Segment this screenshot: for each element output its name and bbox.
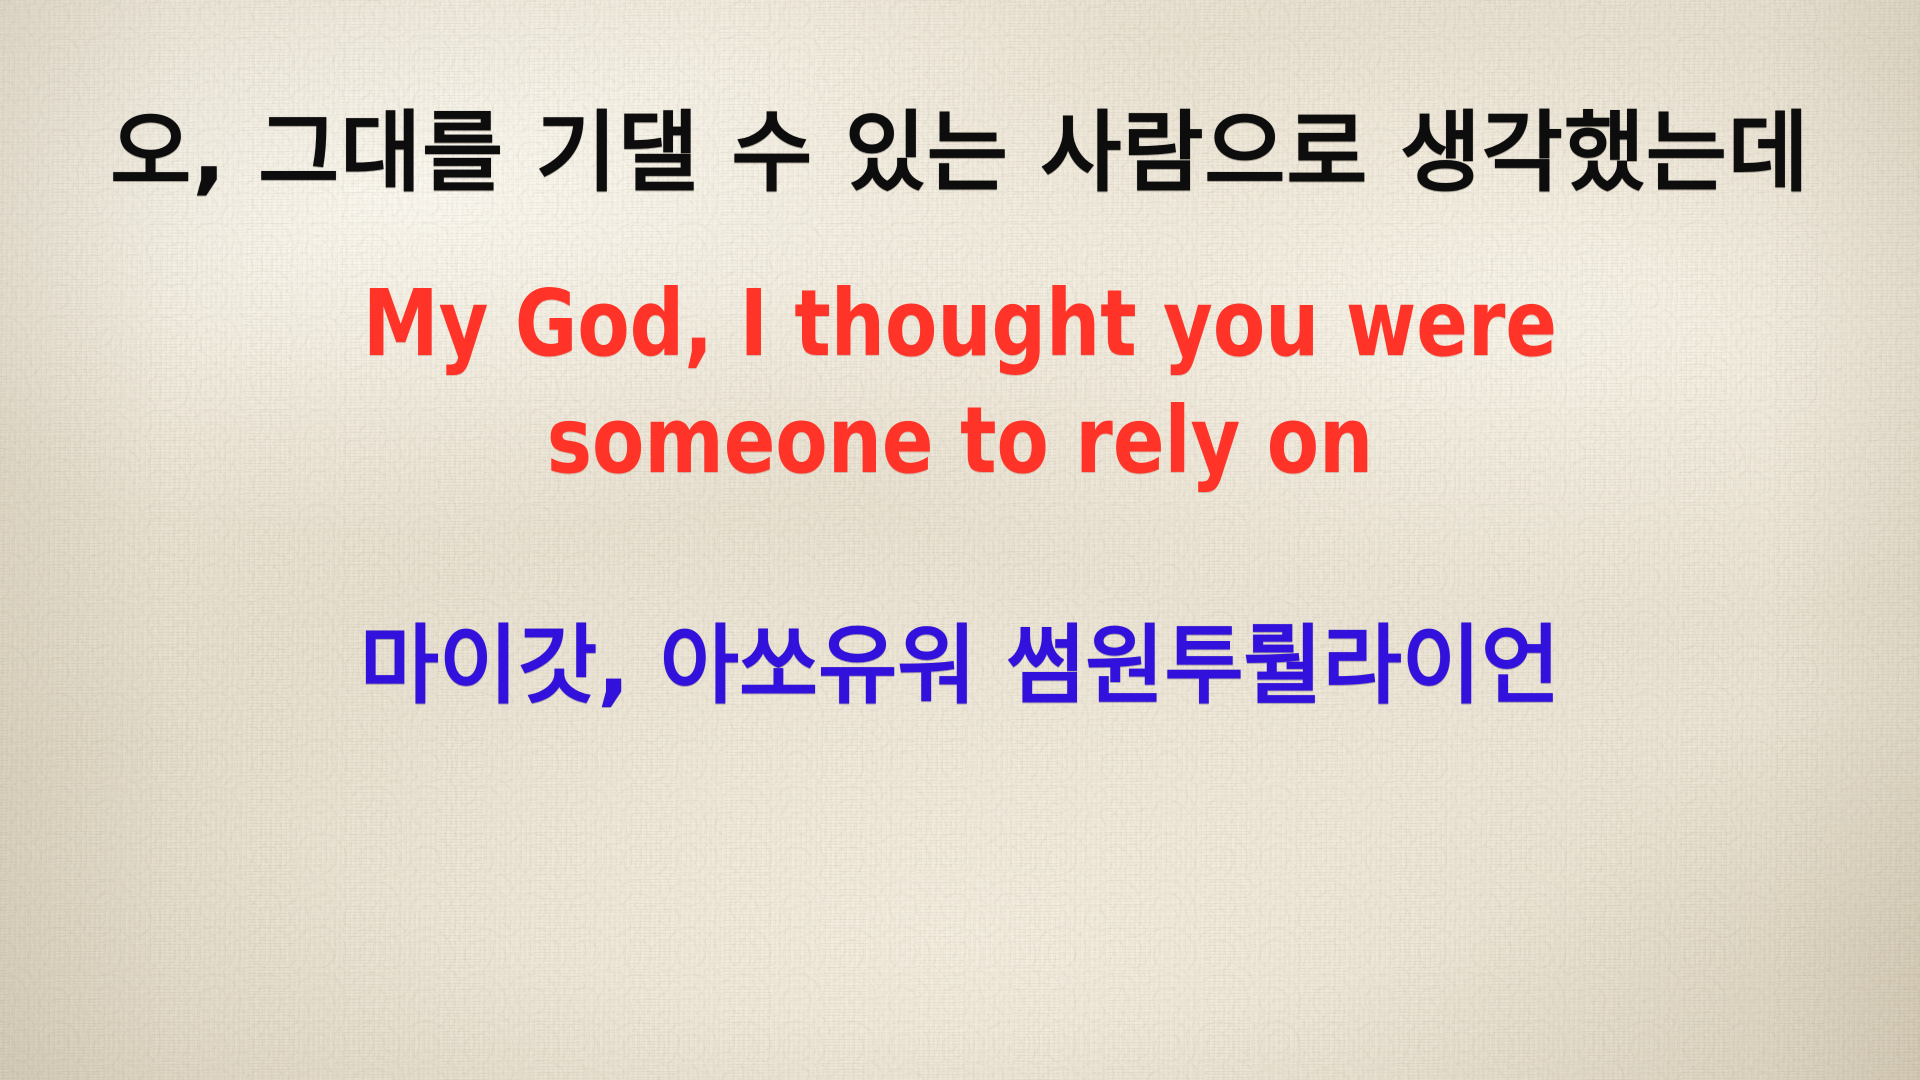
korean-phonetic-line: 마이갓, 아쏘유워 썸원투뤌라이언: [0, 618, 1920, 714]
english-lyric-block: My God, I thought you were someone to re…: [0, 265, 1920, 501]
korean-translation-line: 오, 그대를 기댈 수 있는 사람으로 생각했는데: [0, 104, 1920, 203]
english-lyric-line-2: someone to rely on: [77, 382, 1843, 500]
lyric-slide: 오, 그대를 기댈 수 있는 사람으로 생각했는데 My God, I thou…: [0, 0, 1920, 1080]
english-lyric-line-1: My God, I thought you were: [77, 265, 1843, 383]
lyric-text-stack: 오, 그대를 기댈 수 있는 사람으로 생각했는데 My God, I thou…: [0, 0, 1920, 1080]
